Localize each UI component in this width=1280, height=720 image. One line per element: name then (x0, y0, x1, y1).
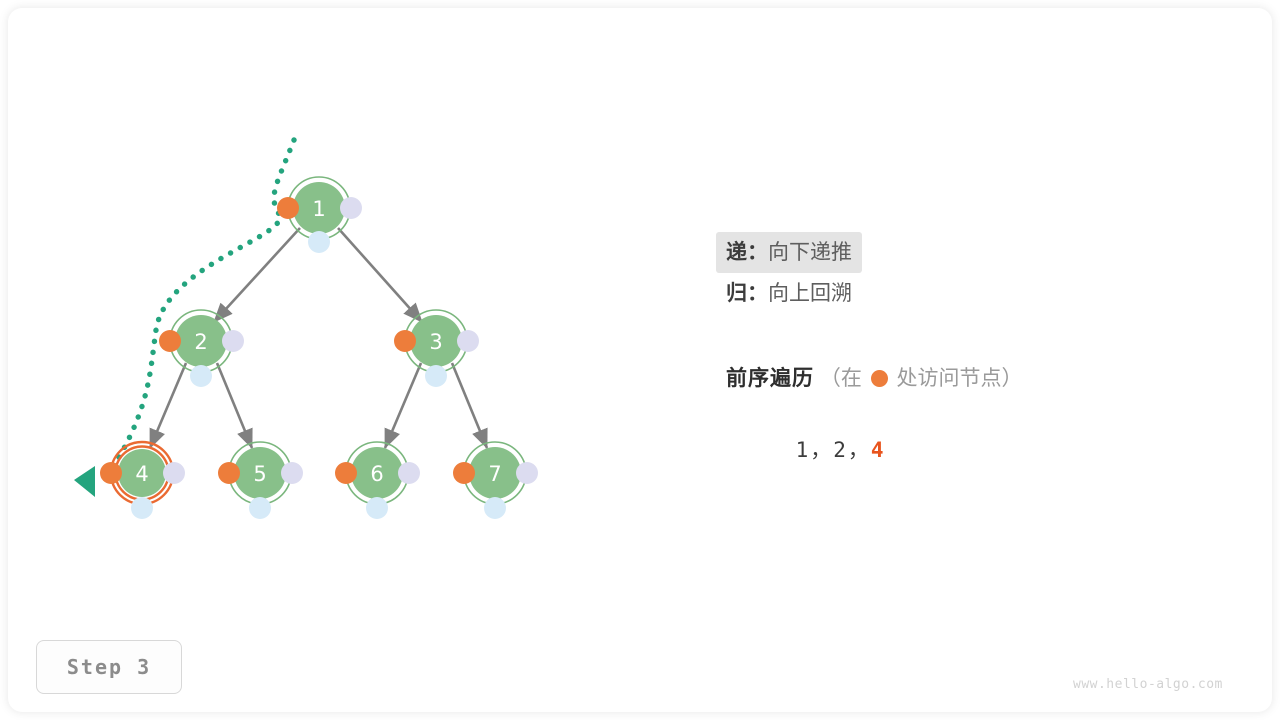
node-7-label: 7 (488, 462, 501, 486)
node-2-label: 2 (194, 330, 207, 354)
node-1-preorder-dot (277, 197, 299, 219)
tree-node-5[interactable]: 5 (218, 442, 303, 519)
edge-3-7 (452, 363, 487, 448)
step-badge-label: Step 3 (67, 655, 151, 679)
preorder-dot-icon (871, 370, 888, 387)
node-4-postorder-dot (131, 497, 153, 519)
node-3-preorder-dot (394, 330, 416, 352)
legend-backtrack-key: 归： (726, 282, 768, 305)
legend-panel: 递：向下递推 归：向上回溯 (726, 232, 1246, 314)
node-1-postorder-dot (308, 231, 330, 253)
node-2-preorder-dot (159, 330, 181, 352)
node-2-postorder-dot (190, 365, 212, 387)
node-7-inorder-dot (516, 462, 538, 484)
traversal-current-value: 4 (871, 438, 886, 462)
legend-recurse-key: 递： (726, 241, 768, 264)
traversal-title: 前序遍历 （在 处访问节点） (726, 362, 1023, 392)
node-4-inorder-dot (163, 462, 185, 484)
traversal-sequence: 1，2，4 (737, 410, 886, 488)
tree-node-2[interactable]: 2 (159, 310, 244, 387)
node-4-label: 4 (135, 462, 148, 486)
tree-node-7[interactable]: 7 (453, 442, 538, 519)
node-1-label: 1 (312, 197, 325, 221)
node-5-label: 5 (253, 462, 266, 486)
traversal-visited-list: 1，2， (796, 438, 871, 462)
node-4-preorder-dot (100, 462, 122, 484)
node-5-postorder-dot (249, 497, 271, 519)
node-3-postorder-dot (425, 365, 447, 387)
edge-3-6 (385, 363, 421, 448)
node-6-inorder-dot (398, 462, 420, 484)
edge-1-3 (338, 228, 422, 322)
edge-1-2 (214, 228, 300, 322)
tree-node-3[interactable]: 3 (394, 310, 479, 387)
traversal-note-close: 处访问节点） (897, 367, 1023, 390)
tree-node-4[interactable]: 4 (100, 442, 185, 519)
node-1-inorder-dot (340, 197, 362, 219)
tree-node-6[interactable]: 6 (335, 442, 420, 519)
legend-row-recurse: 递：向下递推 (716, 232, 862, 273)
legend-row-backtrack: 归：向上回溯 (716, 273, 862, 314)
edge-2-5 (217, 363, 252, 448)
node-6-postorder-dot (366, 497, 388, 519)
diagram-canvas: 1 2 3 4 (0, 0, 1280, 720)
node-3-inorder-dot (457, 330, 479, 352)
current-pointer-arrowhead (74, 466, 95, 497)
node-5-preorder-dot (218, 462, 240, 484)
traversal-note-open: （在 (820, 367, 862, 390)
watermark: www.hello-algo.com (1073, 677, 1223, 692)
node-2-inorder-dot (222, 330, 244, 352)
node-7-postorder-dot (484, 497, 506, 519)
binary-tree-graphic: 1 2 3 4 (0, 0, 1280, 720)
recursion-path-group (74, 140, 294, 497)
node-7-preorder-dot (453, 462, 475, 484)
node-5-inorder-dot (281, 462, 303, 484)
traversal-name: 前序遍历 (726, 367, 814, 390)
node-6-preorder-dot (335, 462, 357, 484)
edge-2-4 (150, 363, 186, 448)
node-3-label: 3 (429, 330, 442, 354)
node-6-label: 6 (370, 462, 383, 486)
legend-recurse-value: 向下递推 (768, 241, 852, 264)
step-badge: Step 3 (36, 640, 182, 694)
legend-backtrack-value: 向上回溯 (768, 282, 852, 305)
